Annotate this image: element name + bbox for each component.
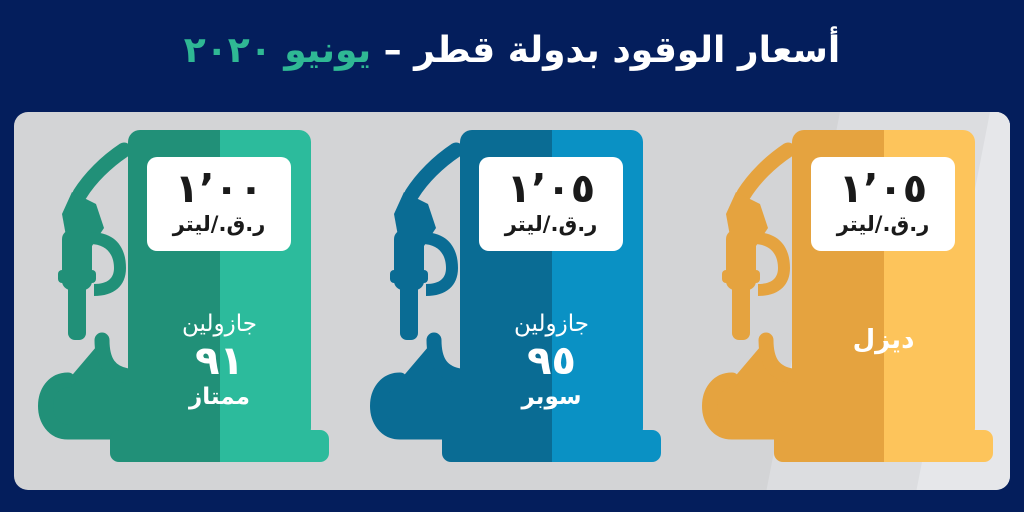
fuel-pump-gasoline-95: ١٬٠٥ ر.ق./ليتر جازولين ٩٥ سوبر xyxy=(364,130,660,472)
pump-row: ١٬٠٠ ر.ق./ليتر جازولين ٩١ ممتاز xyxy=(14,112,1010,490)
pump-base xyxy=(442,430,661,462)
pump-base-light-half xyxy=(884,430,994,462)
fuel-octane: ٩١ xyxy=(128,339,311,383)
fuel-label: ديزل xyxy=(792,310,975,357)
header-bar: أسعار الوقود بدولة قطر – يونيو ٢٠٢٠ xyxy=(0,0,1024,110)
fuel-label: جازولين ٩٥ سوبر xyxy=(460,310,643,412)
price-unit: ر.ق./ليتر xyxy=(173,213,266,236)
fuel-octane: ٩٥ xyxy=(460,339,643,383)
pump-base-dark-half xyxy=(442,430,552,462)
pump-base-light-half xyxy=(552,430,662,462)
fuel-name: ديزل xyxy=(792,310,975,357)
pump-base xyxy=(110,430,329,462)
page-title-main: أسعار الوقود بدولة قطر – xyxy=(384,30,841,71)
price-plate: ١٬٠٥ ر.ق./ليتر xyxy=(811,157,955,251)
fuel-pump-diesel: ١٬٠٥ ر.ق./ليتر ديزل xyxy=(696,130,992,472)
fuel-grade: سوبر xyxy=(460,383,643,412)
content-card: ١٬٠٠ ر.ق./ليتر جازولين ٩١ ممتاز xyxy=(14,112,1010,490)
fuel-name: جازولين xyxy=(460,310,643,339)
pump-base-dark-half xyxy=(774,430,884,462)
price-unit: ر.ق./ليتر xyxy=(837,213,930,236)
price-plate: ١٬٠٥ ر.ق./ليتر xyxy=(479,157,623,251)
price-value: ١٬٠٥ xyxy=(507,169,595,209)
price-plate: ١٬٠٠ ر.ق./ليتر xyxy=(147,157,291,251)
pump-base-light-half xyxy=(220,430,330,462)
pump-base-dark-half xyxy=(110,430,220,462)
price-value: ١٬٠٥ xyxy=(839,169,927,209)
fuel-label: جازولين ٩١ ممتاز xyxy=(128,310,311,412)
price-unit: ر.ق./ليتر xyxy=(505,213,598,236)
fuel-pump-gasoline-91: ١٬٠٠ ر.ق./ليتر جازولين ٩١ ممتاز xyxy=(32,130,328,472)
price-value: ١٬٠٠ xyxy=(175,169,263,209)
fuel-grade: ممتاز xyxy=(128,383,311,412)
fuel-name: جازولين xyxy=(128,310,311,339)
pump-base xyxy=(774,430,993,462)
pump-slot-gasoline-95: ١٬٠٥ ر.ق./ليتر جازولين ٩٥ سوبر xyxy=(346,112,678,490)
pump-slot-gasoline-91: ١٬٠٠ ر.ق./ليتر جازولين ٩١ ممتاز xyxy=(14,112,346,490)
fuel-price-infographic: أسعار الوقود بدولة قطر – يونيو ٢٠٢٠ xyxy=(0,0,1024,512)
page-title: أسعار الوقود بدولة قطر – يونيو ٢٠٢٠ xyxy=(184,30,840,79)
page-title-accent: يونيو ٢٠٢٠ xyxy=(184,30,371,71)
pump-slot-diesel: ١٬٠٥ ر.ق./ليتر ديزل xyxy=(678,112,1010,490)
